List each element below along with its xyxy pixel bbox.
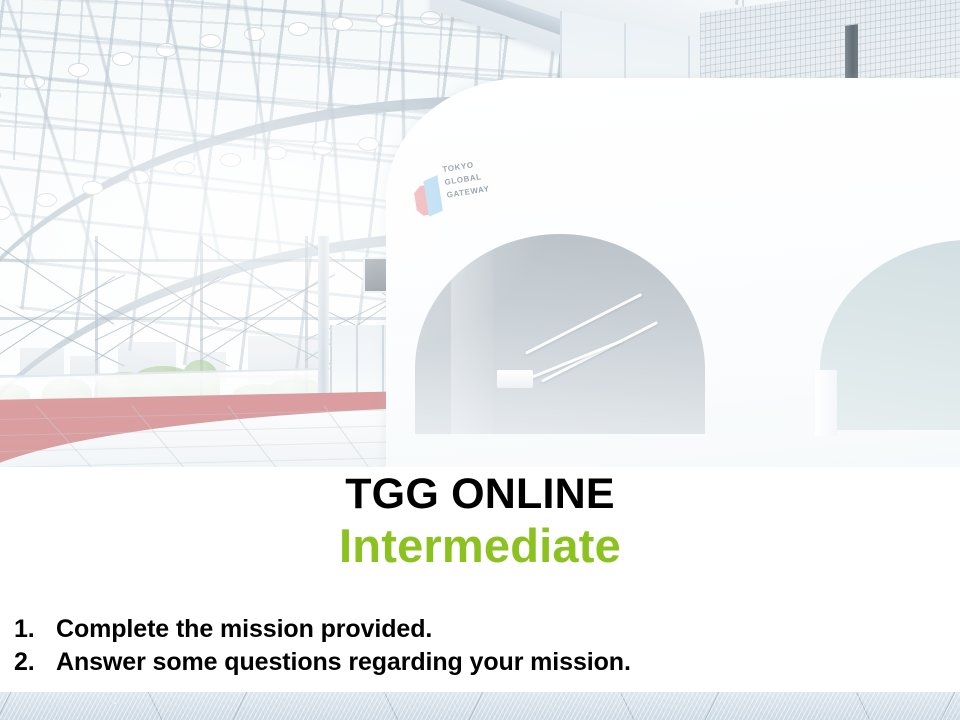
slide-root: TOKYO GLOBAL GATEWAY TGG ONLINE Intermed… — [0, 0, 960, 720]
list-item-number: 1. — [14, 613, 56, 646]
page-subtitle: Intermediate — [0, 521, 960, 570]
interior-column — [318, 236, 329, 411]
tgg-logo-mark-icon — [411, 172, 447, 218]
escalator-handrail-1 — [525, 293, 642, 355]
page-title: TGG ONLINE — [0, 472, 960, 517]
hero-photo: TOKYO GLOBAL GATEWAY — [0, 0, 960, 467]
floor-strip-grout-line — [225, 692, 257, 720]
bottom-floor-strip — [0, 692, 960, 720]
pod-interior-column — [451, 234, 493, 434]
list-item: 1.Complete the mission provided. — [14, 613, 944, 646]
list-item-number: 2. — [14, 646, 56, 679]
list-item-text: Answer some questions regarding your mis… — [56, 646, 944, 679]
text-panel: TGG ONLINE Intermediate 1.Complete the m… — [0, 467, 960, 692]
escalator-handrail-2 — [541, 321, 658, 383]
list-item-text: Complete the mission provided. — [56, 613, 944, 646]
floor-strip-grout-line — [461, 692, 493, 720]
list-item: 2.Answer some questions regarding your m… — [14, 646, 944, 679]
reception-desk — [497, 370, 533, 388]
floor-strip-grout-line — [697, 692, 729, 720]
floor-grout-line — [0, 405, 79, 467]
floor-strip-grout-line — [374, 692, 406, 720]
floor-grout-line — [35, 405, 170, 467]
floor-strip-grout-line — [138, 692, 170, 720]
floor-strip-grout-line — [846, 692, 878, 720]
tgg-logo-wordmark: TOKYO GLOBAL GATEWAY — [442, 157, 491, 202]
floor-strip-grout-line — [610, 692, 642, 720]
floor-grout-line — [227, 405, 351, 467]
floor-strip-grout-line — [933, 692, 960, 720]
pod-base-panel — [815, 370, 837, 436]
floor-strip-grout-line — [0, 692, 21, 720]
instruction-list: 1.Complete the mission provided.2.Answer… — [14, 613, 944, 678]
